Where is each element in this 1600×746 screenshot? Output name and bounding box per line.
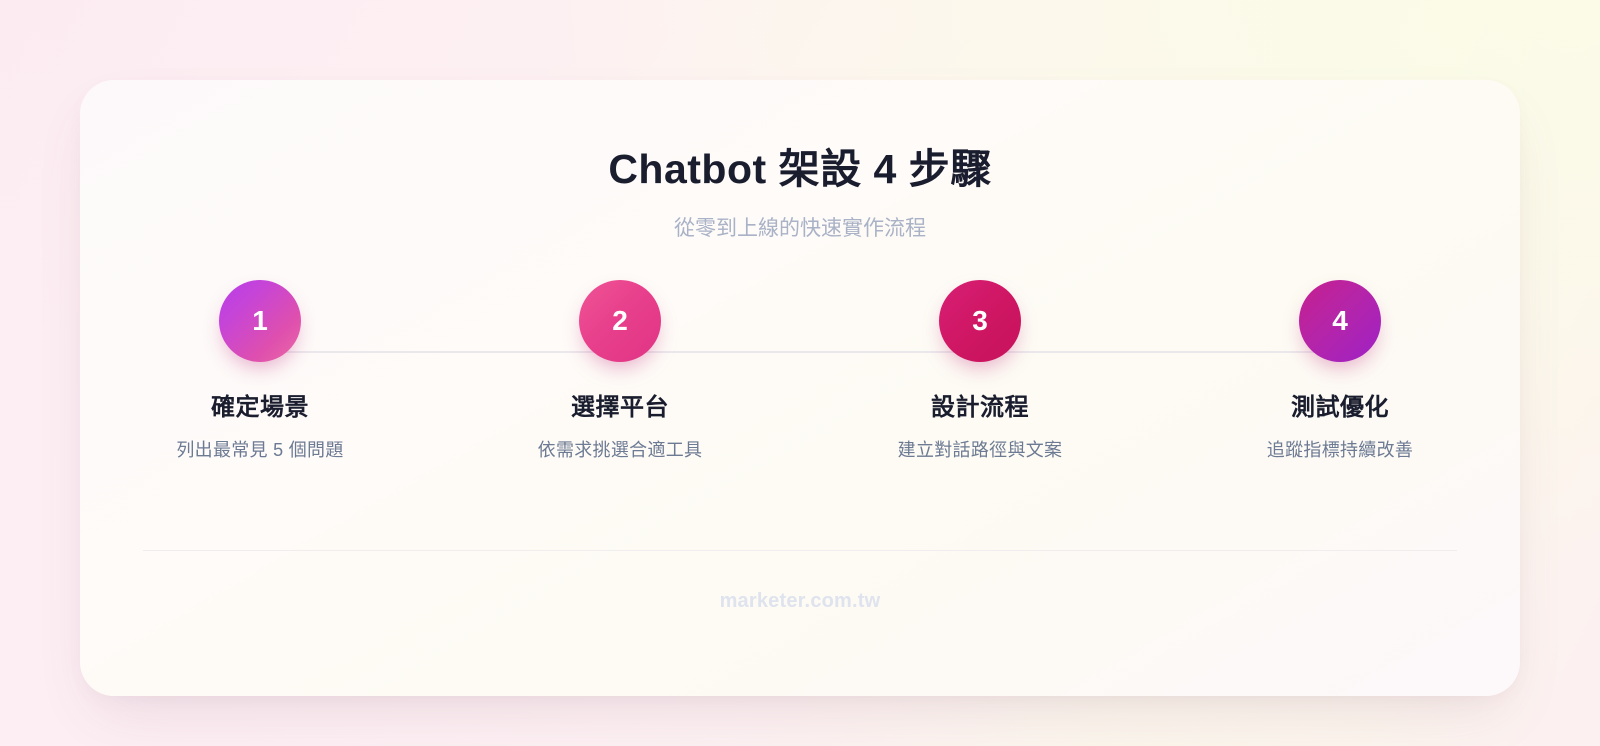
page-background: Chatbot 架設 4 步驟 從零到上線的快速實作流程 1 確定場景 列出最常… <box>0 0 1600 746</box>
step-title-1: 確定場景 <box>211 392 309 423</box>
step-description-3: 建立對話路徑與文案 <box>898 438 1063 463</box>
step-title-2: 選擇平台 <box>571 392 669 423</box>
infographic-card: Chatbot 架設 4 步驟 從零到上線的快速實作流程 1 確定場景 列出最常… <box>80 80 1520 696</box>
step-item-4[interactable]: 4 測試優化 追蹤指標持續改善 <box>1215 280 1465 463</box>
step-description-2: 依需求挑選合適工具 <box>538 438 703 463</box>
step-number-2: 2 <box>612 307 628 335</box>
step-title-3: 設計流程 <box>931 392 1029 423</box>
step-item-3[interactable]: 3 設計流程 建立對話路徑與文案 <box>855 280 1105 463</box>
step-number-badge-4: 4 <box>1299 280 1381 362</box>
steps-timeline: 1 確定場景 列出最常見 5 個問題 2 選擇平台 依需求挑選合適工具 3 <box>80 280 1520 530</box>
step-list: 1 確定場景 列出最常見 5 個問題 2 選擇平台 依需求挑選合適工具 3 <box>80 280 1520 463</box>
step-number-badge-1: 1 <box>219 280 301 362</box>
step-number-3: 3 <box>972 307 988 335</box>
page-subtitle: 從零到上線的快速實作流程 <box>80 213 1520 245</box>
step-item-2[interactable]: 2 選擇平台 依需求挑選合適工具 <box>495 280 745 463</box>
step-number-badge-2: 2 <box>579 280 661 362</box>
page-title: Chatbot 架設 4 步驟 <box>80 144 1520 195</box>
step-number-4: 4 <box>1332 307 1348 335</box>
footer-brand: marketer.com.tw <box>80 590 1520 613</box>
step-item-1[interactable]: 1 確定場景 列出最常見 5 個問題 <box>135 280 385 463</box>
step-description-1: 列出最常見 5 個問題 <box>176 438 343 463</box>
step-title-4: 測試優化 <box>1291 392 1389 423</box>
step-description-4: 追蹤指標持續改善 <box>1267 438 1413 463</box>
step-number-badge-3: 3 <box>939 280 1021 362</box>
step-number-1: 1 <box>252 307 268 335</box>
footer-divider <box>143 550 1457 551</box>
